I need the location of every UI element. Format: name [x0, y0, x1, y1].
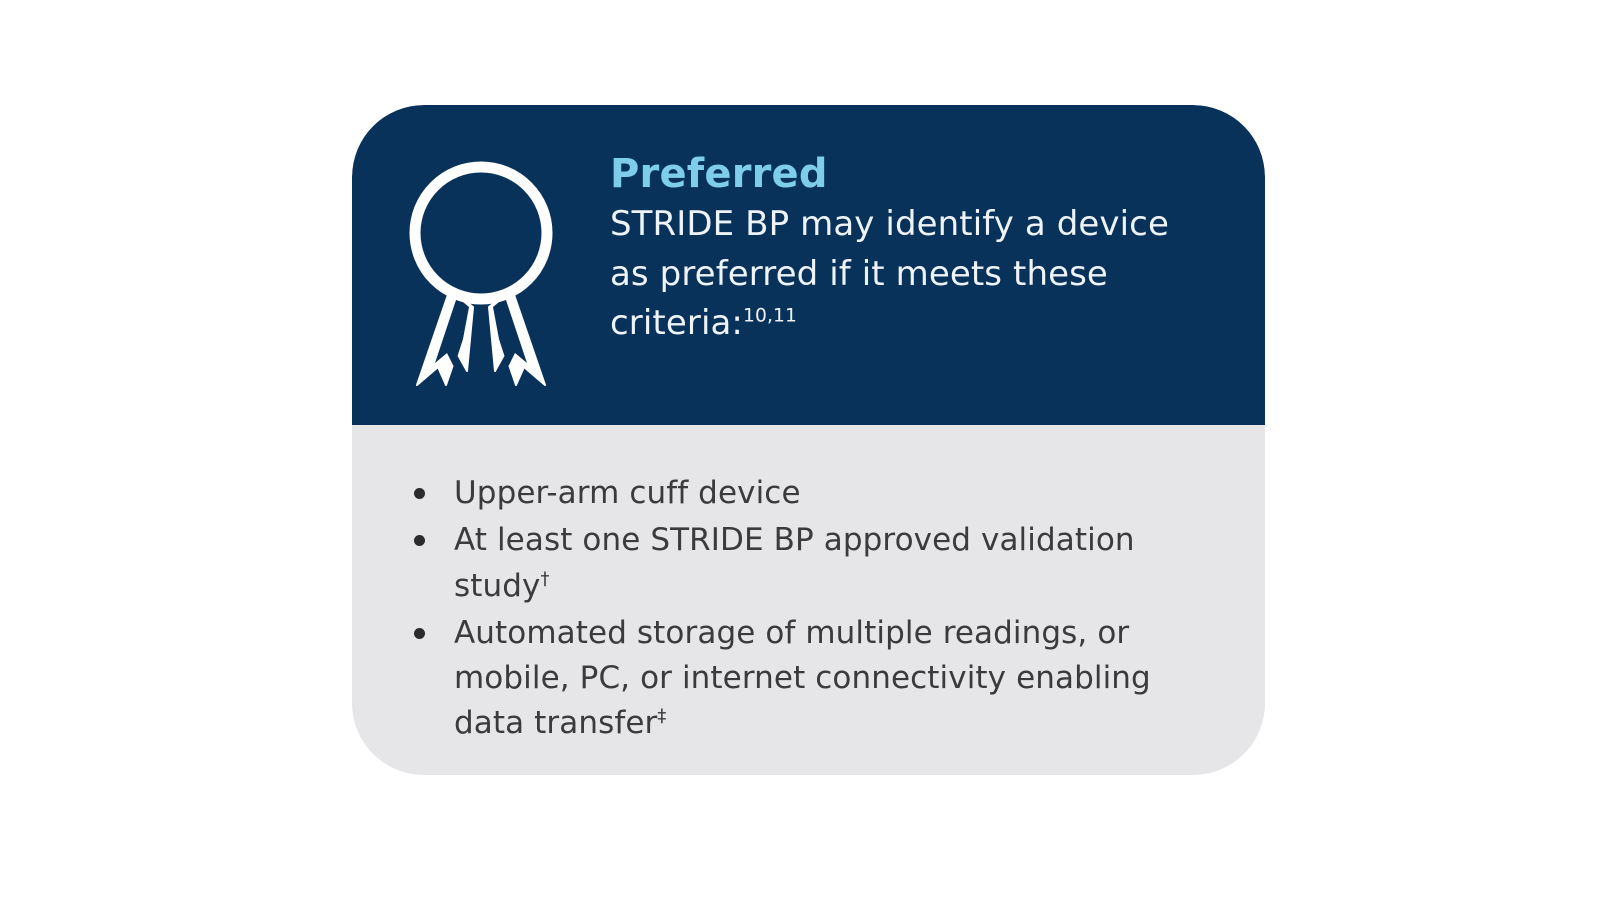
- criteria-list-item: Automated storage of multiple readings, …: [402, 611, 1207, 747]
- card-subtitle: STRIDE BP may identify a device as prefe…: [610, 200, 1170, 349]
- card-subtitle-superscript: 10,11: [743, 306, 797, 327]
- card-body: Upper-arm cuff device At least one STRID…: [352, 425, 1265, 775]
- bullet-dot-icon: [414, 535, 425, 546]
- card-header: Preferred STRIDE BP may identify a devic…: [352, 105, 1265, 425]
- criteria-superscript: ‡: [657, 706, 666, 727]
- award-ribbon-icon: [405, 157, 557, 395]
- criteria-text: Automated storage of multiple readings, …: [454, 615, 1151, 742]
- preferred-criteria-card: Preferred STRIDE BP may identify a devic…: [352, 105, 1265, 775]
- bullet-dot-icon: [414, 628, 425, 639]
- card-title: Preferred: [610, 151, 1219, 198]
- criteria-text: Upper-arm cuff device: [454, 475, 801, 511]
- header-text-block: Preferred STRIDE BP may identify a devic…: [610, 149, 1265, 349]
- award-icon-container: [352, 149, 610, 395]
- criteria-list: Upper-arm cuff device At least one STRID…: [402, 471, 1207, 747]
- bullet-dot-icon: [414, 488, 425, 499]
- criteria-list-item: At least one STRIDE BP approved validati…: [402, 518, 1207, 609]
- criteria-text: At least one STRIDE BP approved validati…: [454, 522, 1135, 603]
- criteria-superscript: †: [540, 568, 549, 589]
- criteria-list-item: Upper-arm cuff device: [402, 471, 1207, 516]
- card-subtitle-text: STRIDE BP may identify a device as prefe…: [610, 204, 1169, 343]
